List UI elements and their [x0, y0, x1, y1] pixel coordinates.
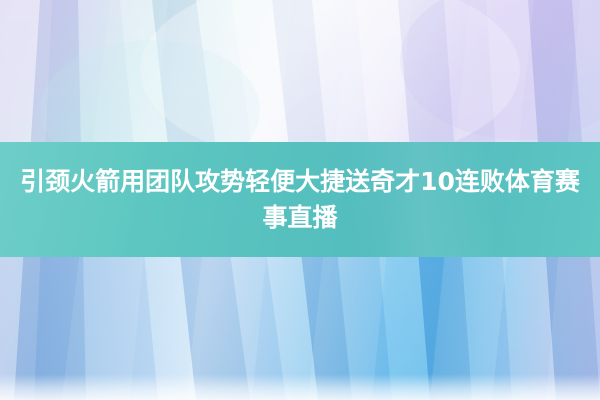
background-gradient-lower: [0, 255, 600, 400]
page-title: 引颈火箭用团队攻势轻便大捷送奇才10连败体育赛事直播: [14, 164, 586, 235]
title-band: 引颈火箭用团队攻势轻便大捷送奇才10连败体育赛事直播: [0, 142, 600, 257]
article-banner: 引颈火箭用团队攻势轻便大捷送奇才10连败体育赛事直播: [0, 0, 600, 400]
